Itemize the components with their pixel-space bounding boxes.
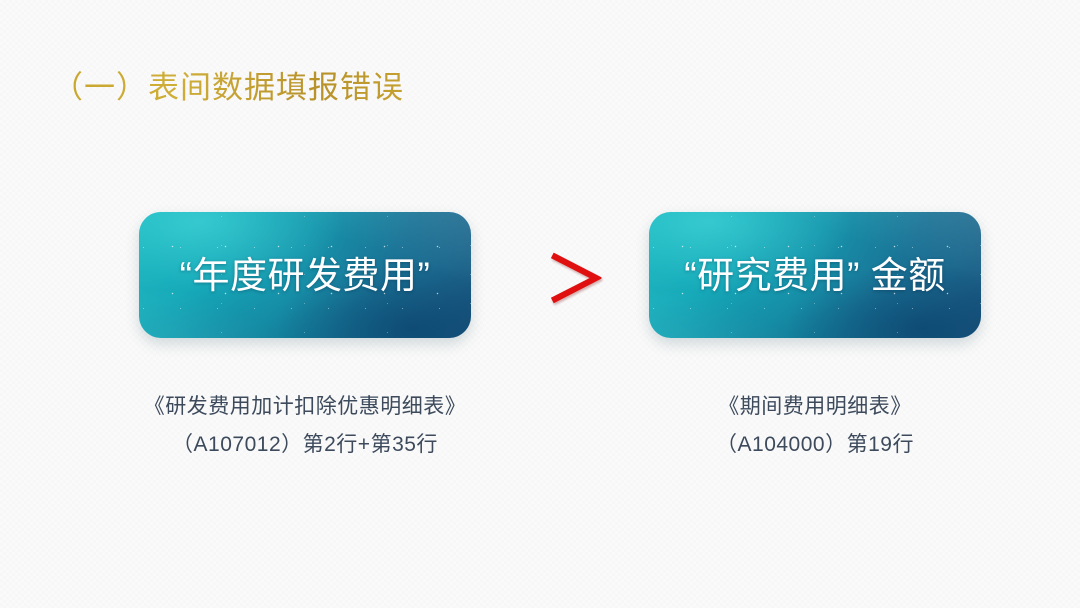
slide-canvas: （一）表间数据填报错误 “年度研发费用” ＞ “研究费用” 金额 《研发费用加计… <box>0 0 1080 608</box>
caption-left-form-name: 《研发费用加计扣除优惠明细表》 <box>95 388 515 426</box>
concept-box-right: “研究费用” 金额 <box>649 212 981 338</box>
caption-left: 《研发费用加计扣除优惠明细表》 （A107012）第2行+第35行 <box>95 388 515 464</box>
caption-right-form-reference: （A104000）第19行 <box>605 426 1025 464</box>
greater-than-icon: ＞ <box>540 248 612 314</box>
concept-box-left: “年度研发费用” <box>139 212 471 338</box>
page-title: （一）表间数据填报错误 <box>52 66 404 110</box>
caption-right: 《期间费用明细表》 （A104000）第19行 <box>605 388 1025 464</box>
caption-right-form-name: 《期间费用明细表》 <box>605 388 1025 426</box>
concept-box-left-label: “年度研发费用” <box>180 257 431 294</box>
concept-box-right-label: “研究费用” 金额 <box>684 257 945 294</box>
caption-left-form-reference: （A107012）第2行+第35行 <box>95 426 515 464</box>
